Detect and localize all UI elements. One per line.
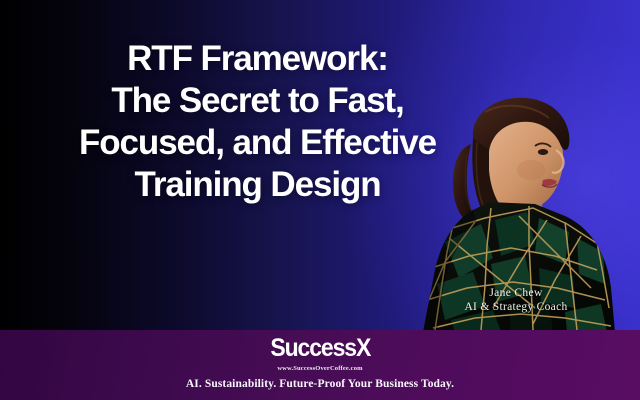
title-line-3: Focused, and Effective: [0, 122, 515, 164]
title-line-2: The Secret to Fast,: [0, 80, 515, 122]
footer-band: SuccessX www.SuccessOverCoffee.com AI. S…: [0, 330, 640, 400]
website-url[interactable]: www.SuccessOverCoffee.com: [277, 364, 362, 373]
title-line-1: RTF Framework:: [0, 38, 515, 80]
speaker-role: AI & Strategy Coach: [432, 300, 600, 314]
speaker-caption: Jane Chew AI & Strategy Coach: [432, 286, 600, 314]
speaker-name: Jane Chew: [432, 286, 600, 300]
presentation-slide: RTF Framework: The Secret to Fast, Focus…: [0, 0, 640, 400]
slide-title: RTF Framework: The Secret to Fast, Focus…: [0, 38, 515, 206]
title-line-4: Training Design: [0, 164, 515, 206]
footer-tagline: AI. Sustainability. Future-Proof Your Bu…: [186, 377, 454, 392]
successx-logo: SuccessX: [270, 334, 370, 362]
